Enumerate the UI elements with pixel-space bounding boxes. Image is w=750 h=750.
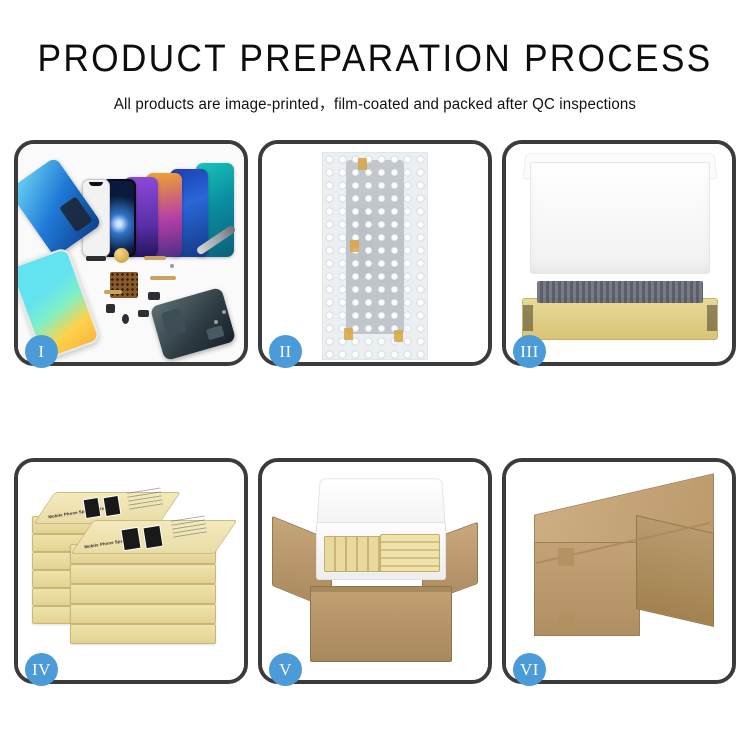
step-5-image xyxy=(262,462,488,680)
yellow-box-icon xyxy=(522,298,718,340)
process-step-4: Mobile Phone Spare Parts Mobile Phone Sp… xyxy=(14,458,248,684)
step-1-image xyxy=(18,144,244,362)
packed-contents-icon xyxy=(537,281,703,303)
box-stack-icon: Mobile Phone Spare Parts Mobile Phone Sp… xyxy=(32,478,232,668)
phone-housing-icon xyxy=(150,287,237,361)
chip-array-icon xyxy=(110,272,138,298)
process-step-grid: I II xyxy=(14,140,736,684)
packed-boxes-stack-icon xyxy=(380,534,440,572)
step-2-image xyxy=(262,144,488,362)
step-badge-2: II xyxy=(269,335,302,368)
process-step-1: I xyxy=(14,140,248,366)
step-badge-4: IV xyxy=(25,653,58,686)
step-4-image: Mobile Phone Spare Parts Mobile Phone Sp… xyxy=(18,462,244,680)
process-step-3: III xyxy=(502,140,736,366)
vibrator-motor-icon xyxy=(114,248,129,263)
bubble-wrap-bag-icon xyxy=(322,152,428,360)
carton-body-icon xyxy=(310,586,452,662)
step-badge-3: III xyxy=(513,335,546,368)
step-badge-6: VI xyxy=(513,653,546,686)
page-title: PRODUCT PREPARATION PROCESS xyxy=(26,40,724,78)
process-step-6: VI xyxy=(502,458,736,684)
step-badge-5: V xyxy=(269,653,302,686)
step-badge-1: I xyxy=(25,335,58,368)
step-3-image xyxy=(506,144,732,362)
header: PRODUCT PREPARATION PROCESS All products… xyxy=(0,0,750,114)
foam-insert-icon xyxy=(530,162,710,274)
carton-front-face-icon xyxy=(534,542,640,636)
process-step-5: V xyxy=(258,458,492,684)
page-subtitle: All products are image-printed，film-coat… xyxy=(11,92,739,114)
process-step-2: II xyxy=(258,140,492,366)
step-6-image xyxy=(506,462,732,680)
product-preparation-infographic: PRODUCT PREPARATION PROCESS All products… xyxy=(0,0,750,750)
